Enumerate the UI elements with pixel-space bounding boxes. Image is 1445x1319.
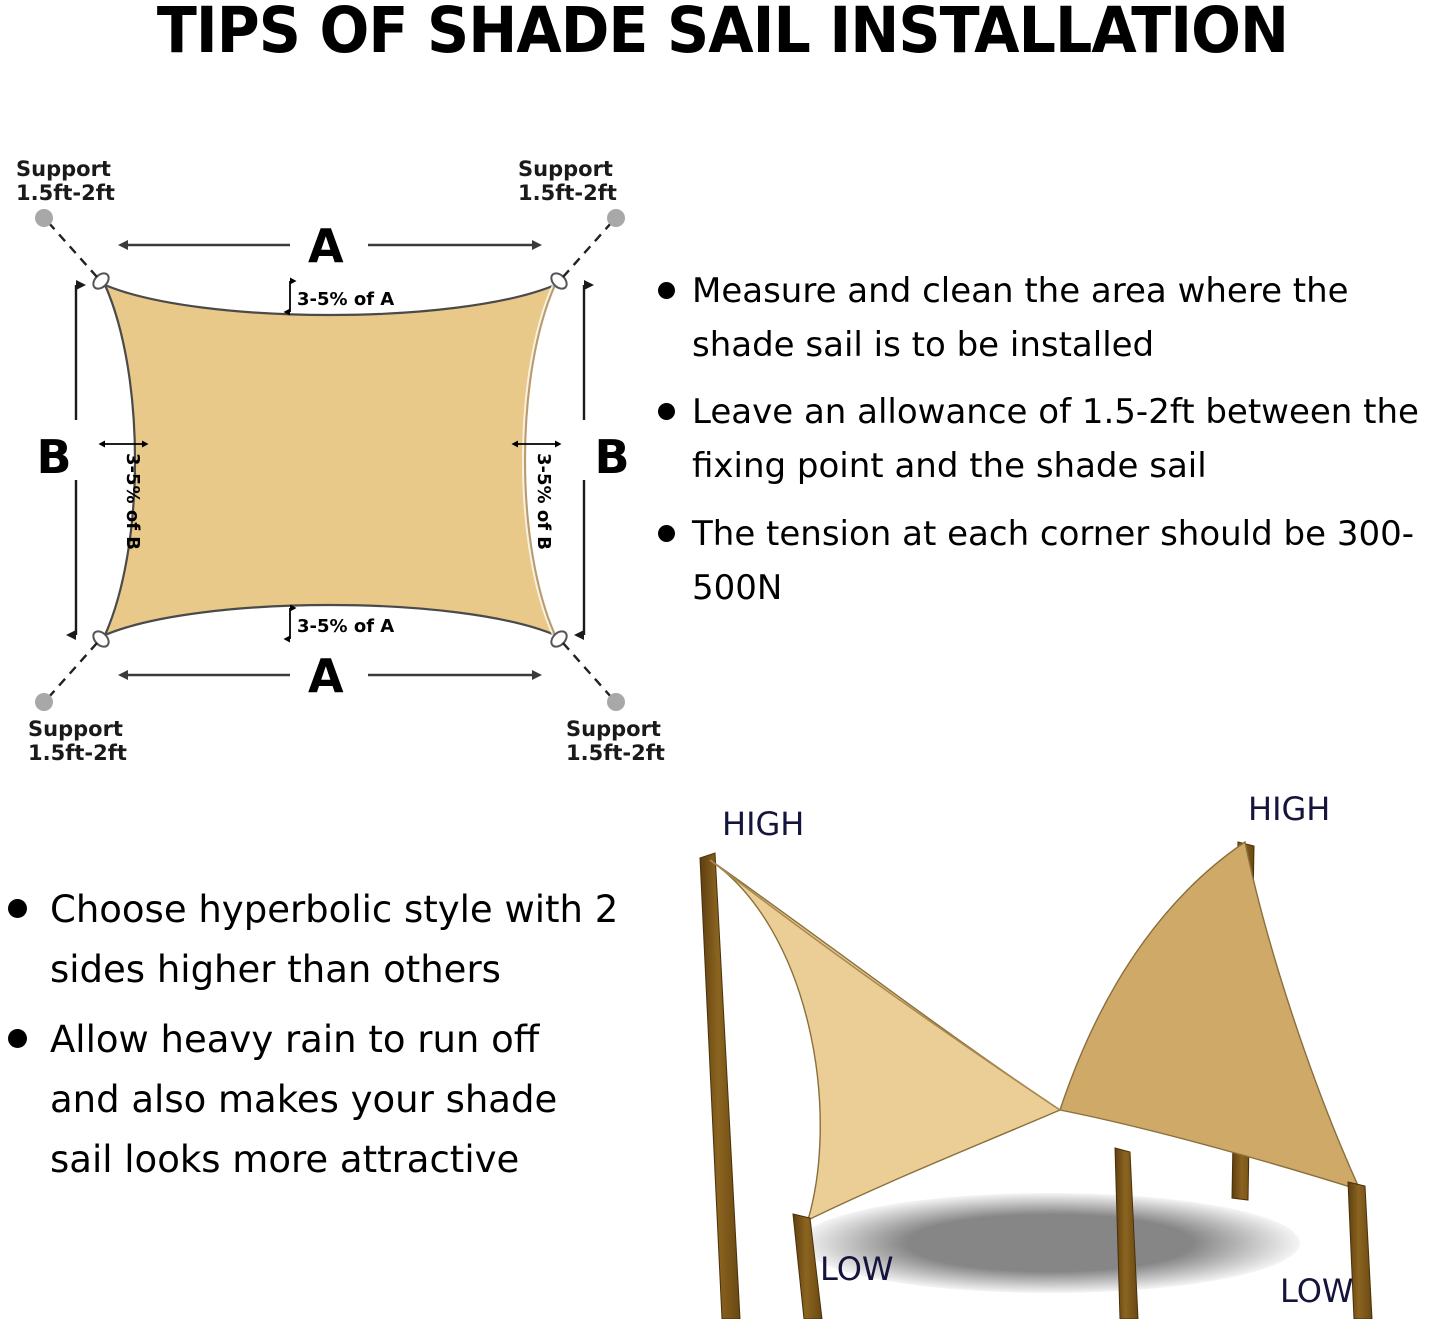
curvature-bottom: 3-5% of A [290,608,394,639]
installation-tips-panel: Measure and clean the area where the sha… [640,265,1445,665]
support-label-bottom-left: Support 1.5ft-2ft [28,717,127,765]
curvature-label-left: 3-5% of B [122,453,143,550]
support-label-bottom-right: Support 1.5ft-2ft [566,717,665,765]
hyperbolic-style-tips-panel: Choose hyperbolic style with 2 sides hig… [0,880,620,1210]
dimension-label-b-left: B [36,430,71,484]
installation-tips-list: Measure and clean the area where the sha… [640,265,1445,615]
dimension-a-top: A [128,219,532,273]
sail-panel-left [710,860,1060,1220]
dimension-label-b-right: B [594,430,629,484]
list-item: The tension at each corner should be 300… [640,508,1445,615]
sail-shape [105,285,555,635]
list-item: Allow heavy rain to run off and also mak… [0,1010,620,1190]
curvature-top: 3-5% of A [290,281,394,312]
rect-sail-diagram: Support 1.5ft-2ft Support 1.5ft-2ft Supp… [0,150,660,750]
curvature-left: 3-5% of B [105,444,143,550]
hyperbolic-sail-illustration: HIGH HIGH LOW LOW [660,780,1445,1319]
support-label-line1: Support [566,717,661,741]
support-label-top-left: Support 1.5ft-2ft [16,157,115,205]
label-high-right: HIGH [1248,790,1330,828]
support-label-top-right: Support 1.5ft-2ft [518,157,617,205]
support-label-line2: 1.5ft-2ft [566,741,665,765]
dimension-label-a-bottom: A [308,649,344,703]
label-low-left: LOW [820,1250,894,1288]
list-item: Measure and clean the area where the sha… [640,265,1445,372]
list-item: Choose hyperbolic style with 2 sides hig… [0,880,620,1000]
support-label-line1: Support [16,157,111,181]
support-label-line2: 1.5ft-2ft [16,181,115,205]
hyperbolic-style-tips-list: Choose hyperbolic style with 2 sides hig… [0,880,620,1190]
dimension-b-right: B [584,285,630,635]
dimension-a-bottom: A [128,649,532,703]
support-label-line1: Support [518,157,613,181]
support-label-line1: Support [28,717,123,741]
curvature-label-bottom: 3-5% of A [297,616,394,637]
list-item: Leave an allowance of 1.5-2ft between th… [640,386,1445,493]
page-title: TIPS OF SHADE SAIL INSTALLATION [51,0,1395,67]
curvature-label-top: 3-5% of A [297,289,394,310]
sail-panel-right [1060,842,1360,1190]
label-low-right: LOW [1280,1272,1354,1310]
label-high-left: HIGH [722,805,804,843]
post-high-left [700,853,740,1319]
support-label-line2: 1.5ft-2ft [518,181,617,205]
dimension-label-a-top: A [308,219,344,273]
support-label-line2: 1.5ft-2ft [28,741,127,765]
curvature-label-right: 3-5% of B [533,453,554,550]
dimension-b-left: B [36,285,76,635]
